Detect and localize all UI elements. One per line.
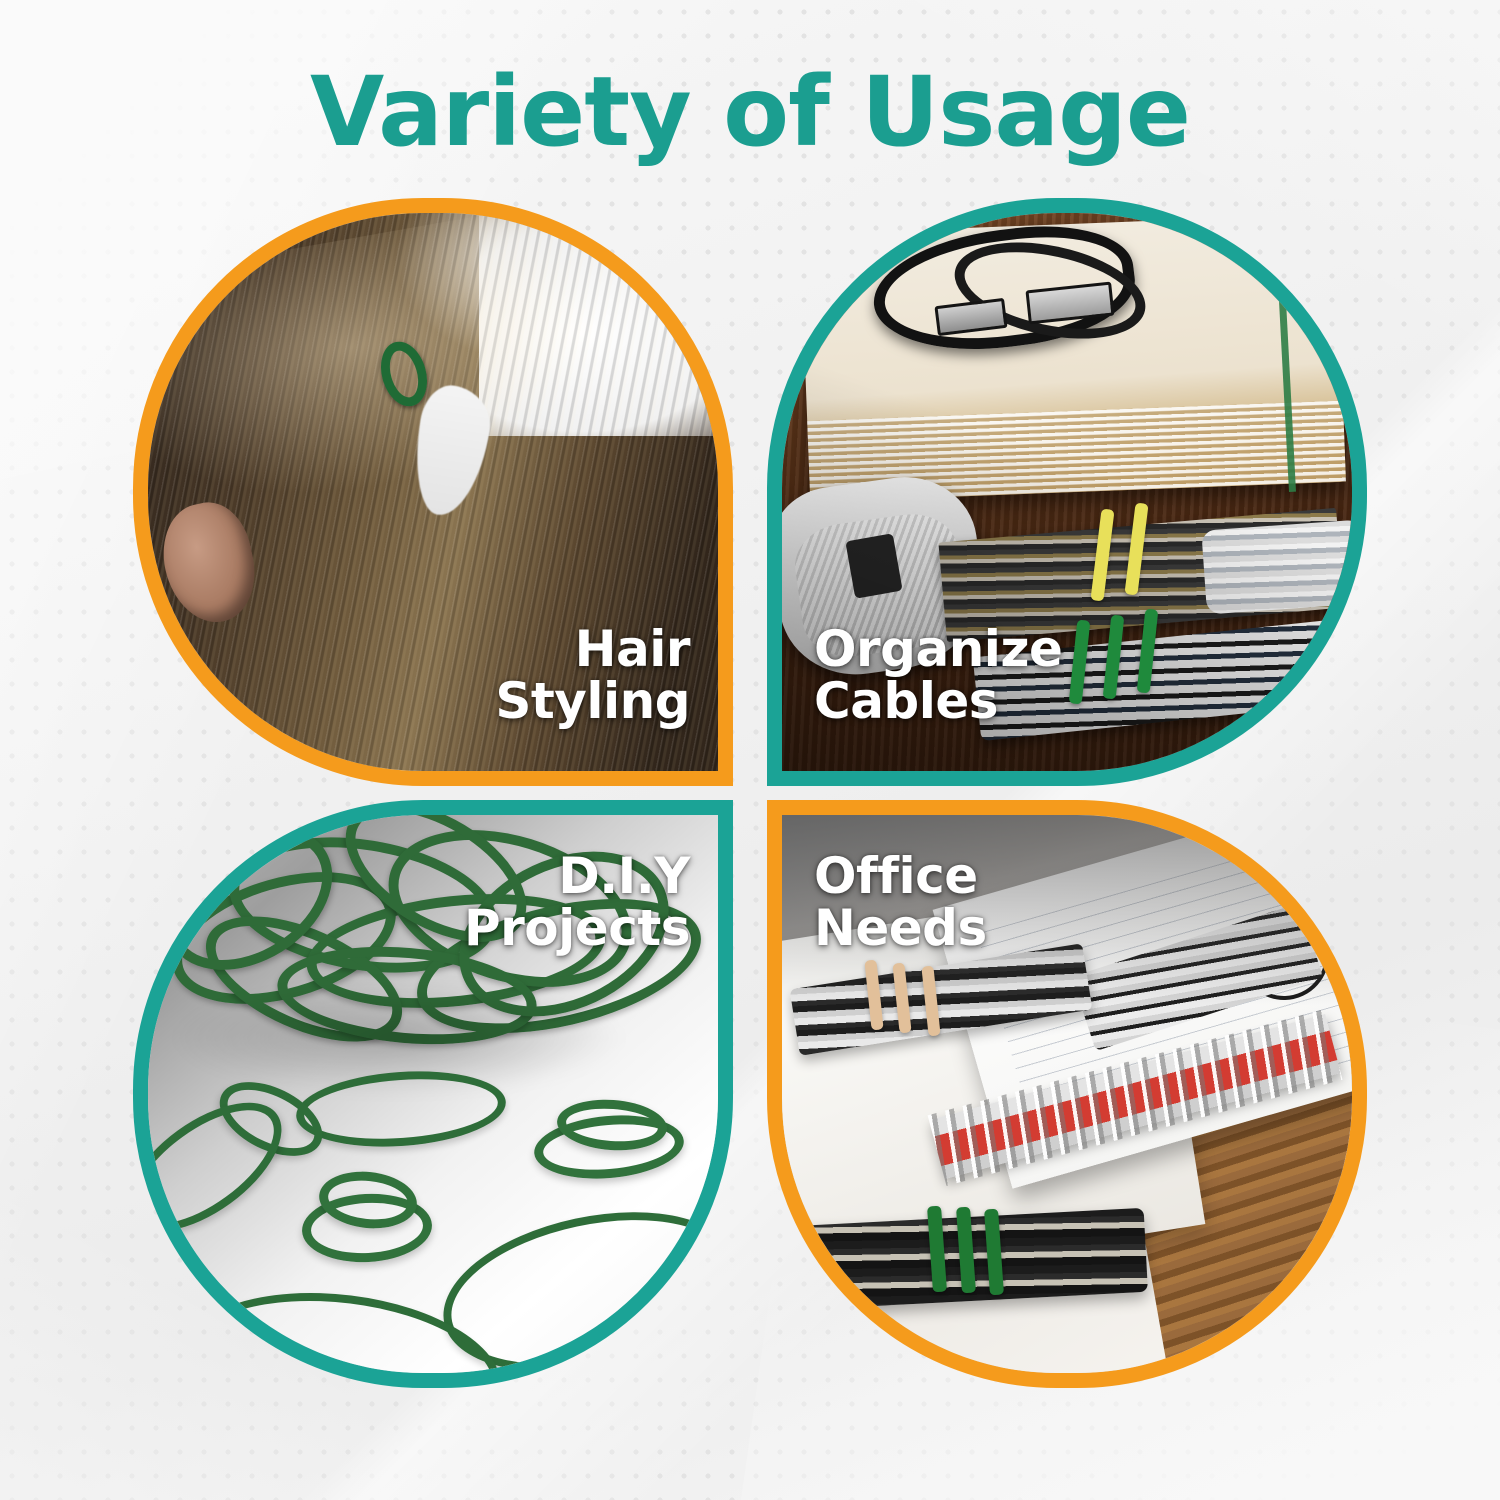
panel-diy-projects[interactable]: D.I.Y Projects [133, 800, 733, 1388]
panel-hair-styling[interactable]: Hair Styling [133, 198, 733, 786]
panel-caption-office-needs: Office Needs [814, 851, 987, 954]
infographic-page: Variety of Usage Hair Styling [0, 0, 1500, 1500]
panel-office-needs[interactable]: Office Needs [767, 800, 1367, 1388]
usage-petal-grid: Hair Styling [133, 198, 1367, 1388]
panel-caption-organize-cables: Organize Cables [814, 624, 1062, 727]
panel-organize-cables[interactable]: Organize Cables [767, 198, 1367, 786]
page-title: Variety of Usage [0, 60, 1500, 166]
panel-caption-diy-projects: D.I.Y Projects [464, 851, 690, 954]
panel-caption-hair-styling: Hair Styling [495, 624, 690, 727]
